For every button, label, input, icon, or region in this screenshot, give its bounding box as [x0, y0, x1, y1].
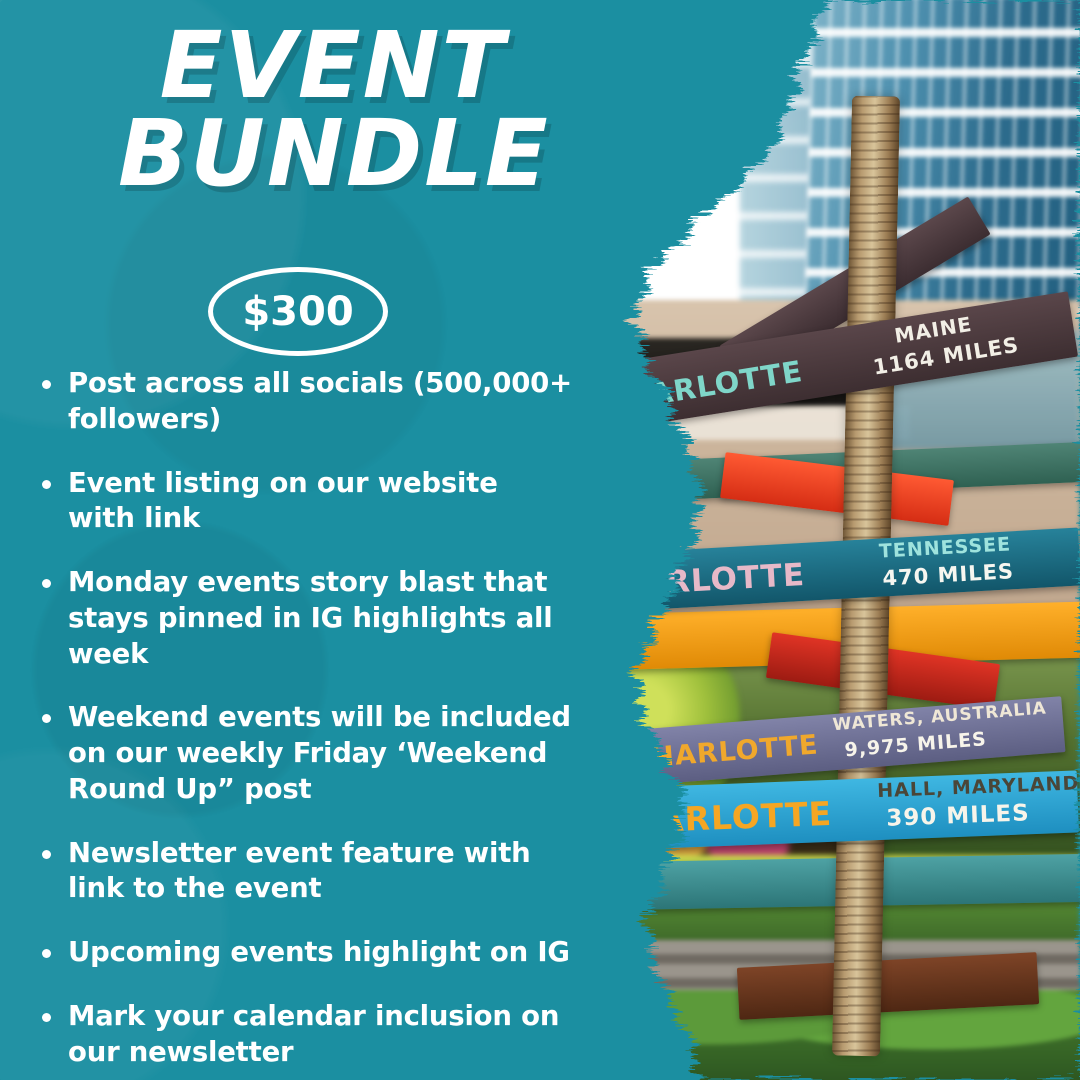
sign-australia-distance: 9,975 MILES [844, 728, 988, 761]
list-item-label: Weekend events will be included on our w… [68, 700, 573, 807]
list-item-label: Post across all socials (500,000+ follow… [68, 366, 573, 438]
sign-tennessee-destination: TENNESSEE [878, 533, 1011, 562]
bullet-dot-icon [42, 480, 51, 489]
list-item-label: Newsletter event feature with link to th… [68, 836, 573, 908]
sign-maryland-city: CHARLOTTE [604, 794, 833, 842]
list-item: Newsletter event feature with link to th… [34, 836, 594, 908]
list-item: Post across all socials (500,000+ follow… [34, 366, 594, 438]
list-item-label: Monday events story blast that stays pin… [68, 565, 573, 672]
bullet-dot-icon [42, 1013, 51, 1022]
sign-tennessee-city: CHARLOTTE [590, 557, 806, 605]
sign-maryland-destination: HALL, MARYLAND [877, 772, 1080, 802]
signpost-photo: CHARLOTTE MAINE 1164 MILES CHARLOTTE TEN… [550, 0, 1080, 1080]
price-badge: $300 [208, 267, 388, 356]
sign-tennessee-distance: 470 MILES [882, 559, 1015, 590]
bullet-dot-icon [42, 714, 51, 723]
sign-australia-city: CHARLOTTE [630, 729, 820, 775]
list-item: Weekend events will be included on our w… [34, 700, 594, 807]
price-amount: $300 [242, 289, 353, 335]
title-line-2: BUNDLE [118, 110, 548, 198]
content-panel: EVENT BUNDLE $300 Post across all social… [0, 0, 600, 1080]
page-title: EVENT BUNDLE [118, 22, 548, 199]
bullet-dot-icon [42, 579, 51, 588]
poster-canvas: EVENT BUNDLE $300 Post across all social… [0, 0, 1080, 1080]
list-item-label: Event listing on our website with link [68, 466, 573, 538]
list-item: Monday events story blast that stays pin… [34, 565, 594, 672]
bullet-dot-icon [42, 380, 51, 389]
list-item: Event listing on our website with link [34, 466, 594, 538]
list-item-label: Upcoming events highlight on IG [68, 935, 570, 971]
list-item: Upcoming events highlight on IG [34, 935, 594, 971]
benefits-list: Post across all socials (500,000+ follow… [34, 366, 594, 1080]
bullet-dot-icon [42, 850, 51, 859]
sign-maryland-distance: 390 MILES [886, 800, 1030, 831]
bullet-dot-icon [42, 949, 51, 958]
list-item-label: Mark your calendar inclusion on our news… [68, 999, 573, 1071]
list-item: Mark your calendar inclusion on our news… [34, 999, 594, 1071]
